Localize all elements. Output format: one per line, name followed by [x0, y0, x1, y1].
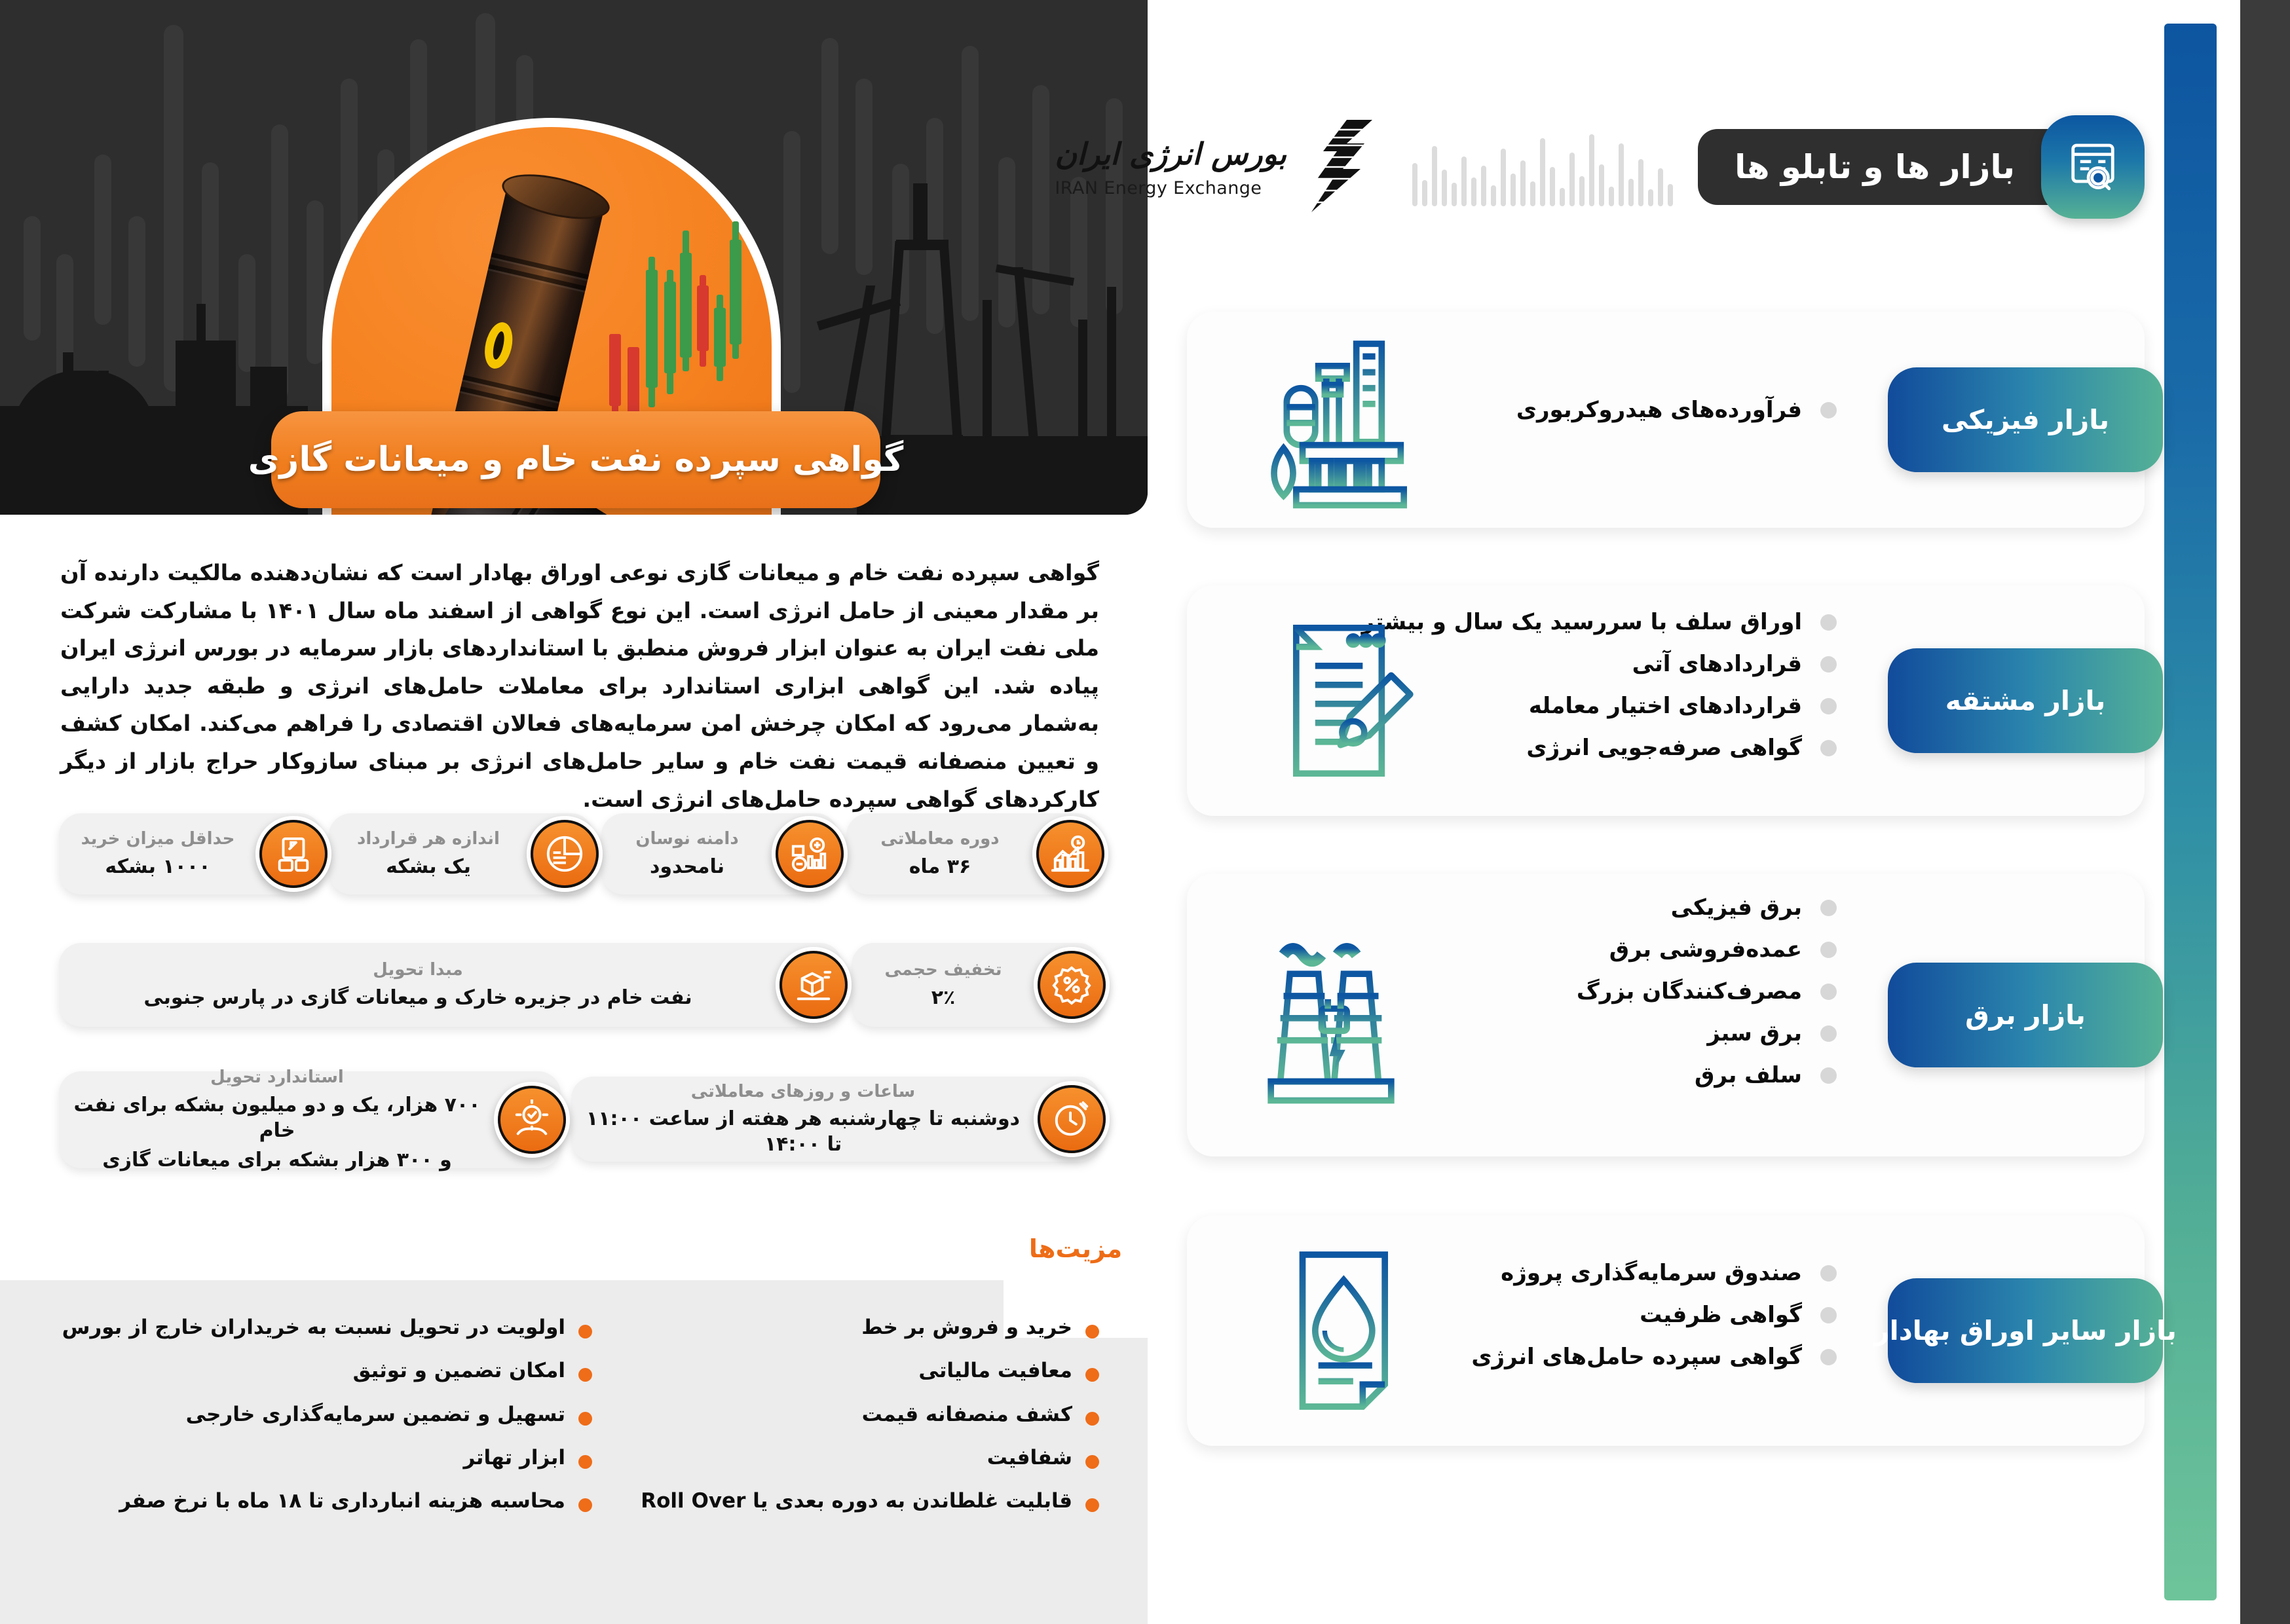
market-pill-electricity[interactable]: بازار برق: [1888, 963, 2163, 1067]
bullet-dot: [1820, 1349, 1837, 1365]
spec-label: استاندارد تحویل: [73, 1067, 481, 1088]
bullet-dot: [1085, 1325, 1099, 1338]
list-item: شفافیت: [641, 1445, 1099, 1471]
logo-name-fa: بورس انرژی ایران: [1055, 136, 1286, 172]
bullet-dot: [578, 1412, 592, 1426]
bullet-dot: [1820, 614, 1837, 631]
market-card-other-securities: بازار سایر اوراق بهادار صندوق سرمایه‌گذا: [1187, 1215, 2145, 1446]
spec-label: حداقل میزان خرید: [73, 828, 242, 850]
spec-label: اندازه هر قرارداد: [343, 828, 514, 850]
spec-label: تخفیف حجمی: [866, 959, 1021, 981]
bullet-dot: [1820, 698, 1837, 714]
bullet-dot: [1820, 740, 1837, 756]
bullet-dot: [1820, 656, 1837, 673]
market-card-physical: بازار فیزیکی: [1187, 312, 2145, 528]
spec-chip-delivery-standard: استاندارد تحویل ۷۰۰ هزار، یک و دو میلیون…: [59, 1071, 561, 1168]
spec-value: نفت خام در جزیره خارک و میعانات گازی در …: [73, 985, 762, 1010]
spec-label: دوره معاملاتی: [861, 828, 1019, 850]
market-pill-physical[interactable]: بازار فیزیکی: [1888, 367, 2163, 472]
volatility-icon: [772, 816, 848, 892]
spec-value-line1: ۷۰۰ هزار، یک و دو میلیون بشکه برای نفت خ…: [73, 1092, 481, 1143]
bullet-dot: [1820, 900, 1837, 916]
market-card-electricity: بازار برق: [1187, 874, 2145, 1156]
oil-certificate-icon: [1255, 1236, 1445, 1426]
list-item: تسهیل و تضمین سرمایه‌گذاری خارجی: [42, 1401, 592, 1428]
bullet-dot: [1820, 1067, 1837, 1084]
bullet-dot: [1820, 1265, 1837, 1282]
intro-paragraph: گواهی سپرده نفت خام و میعانات گازی نوعی …: [60, 554, 1099, 818]
spec-chip-volume-discount: تخفیف حجمی ۲٪: [852, 943, 1100, 1027]
power-plant-icon: [1255, 920, 1445, 1110]
spec-chip-contract-size: اندازه هر قرارداد یک بشکه: [329, 813, 593, 895]
bullet-dot: [578, 1455, 592, 1469]
spec-chip-delivery-origin: مبدا تحویل نفت خام در جزیره خارک و میعان…: [59, 943, 842, 1027]
right-panel-title: بازار ها و تابلو ها: [1735, 148, 2015, 186]
bullet-dot: [1820, 402, 1837, 418]
logo-name-en: IRAN Energy Exchange: [1055, 178, 1286, 198]
list-item: اولویت در تحویل نسبت به خریداران خارج از…: [42, 1314, 592, 1340]
growth-chart-icon: [1032, 816, 1108, 892]
spec-chip-trading-period: دوره معاملاتی ۳۶ ماه: [846, 813, 1099, 895]
bullet-dot: [578, 1498, 592, 1512]
spec-label: ساعات و روزهای معاملاتی: [586, 1081, 1021, 1103]
bullet-dot: [1085, 1498, 1099, 1512]
bullet-dot: [1820, 942, 1837, 958]
advantages-column-left: اولویت در تحویل نسبت به خریداران خارج از…: [42, 1314, 592, 1531]
board-search-icon: [2041, 115, 2145, 219]
spec-value: یک بشکه: [343, 854, 514, 879]
spec-value: نامحدود: [616, 854, 759, 879]
advantages-tab-label: مزیت‌ها: [1029, 1234, 1122, 1263]
quality-seal-icon: [494, 1082, 570, 1158]
bullet-dot: [1820, 984, 1837, 1000]
percent-badge-icon: [1034, 947, 1110, 1023]
spec-chip-volatility: دامنه نوسان نامحدود: [601, 813, 838, 895]
list-item: قابلیت غلطاندن به دوره بعدی یا Roll Over: [641, 1488, 1099, 1514]
spec-value: ۳۶ ماه: [861, 854, 1019, 879]
spec-chip-trading-hours: ساعات و روزهای معاملاتی دوشنبه تا چهارشن…: [571, 1077, 1100, 1162]
market-card-derivatives: بازار مشتقه: [1187, 585, 2145, 816]
list-item: کشف منصفانه قیمت: [641, 1401, 1099, 1428]
right-panel-title-banner: بازار ها و تابلو ها: [1698, 129, 2075, 205]
clock-icon: [1034, 1081, 1110, 1157]
bullet-dot: [1820, 1307, 1837, 1323]
page-title: گواهی سپرده نفت خام و میعانات گازی: [248, 440, 903, 479]
hero-title-banner: گواهی سپرده نفت خام و میعانات گازی: [271, 411, 880, 508]
right-panel-header: بازار ها و تابلو ها بورس انرژی: [1055, 115, 2145, 219]
spec-value: ۲٪: [866, 985, 1021, 1010]
delivery-box-icon: [776, 947, 852, 1023]
advantages-panel: مزیت‌ها خرید و فروش بر خط معافیت مالیاتی…: [0, 1280, 1148, 1624]
spec-value-line2: و ۳۰۰ هزار بشکه برای میعانات گازی: [73, 1147, 481, 1173]
bullet-dot: [1085, 1368, 1099, 1382]
logo-mark-icon: [1304, 118, 1382, 216]
spec-value: دوشنبه تا چهارشنبه هر هفته از ساعت ۱۱:۰۰…: [586, 1106, 1021, 1157]
pie-chart-icon: [527, 816, 603, 892]
bullet-dot: [1820, 1025, 1837, 1042]
basket-cart-icon: [255, 816, 331, 892]
right-edge-gradient-strip: [2164, 24, 2217, 1600]
spec-label: دامنه نوسان: [616, 828, 759, 850]
spec-label: مبدا تحویل: [73, 959, 762, 981]
infographic-canvas: گواهی سپرده نفت خام و میعانات گازی گواهی…: [0, 0, 2240, 1624]
spec-value: ۱۰۰۰ بشکه: [73, 854, 242, 879]
waveform-decoration: [1412, 128, 1673, 206]
hero-banner: گواهی سپرده نفت خام و میعانات گازی: [0, 0, 1148, 515]
list-item: خرید و فروش بر خط: [641, 1314, 1099, 1340]
spec-chip-min-purchase: حداقل میزان خرید ۱۰۰۰ بشکه: [59, 813, 322, 895]
refinery-icon: [1255, 325, 1445, 515]
list-item: معافیت مالیاتی: [641, 1357, 1099, 1384]
bullet-dot: [578, 1368, 592, 1382]
list-item: امکان تضمین و توثیق: [42, 1357, 592, 1384]
bullet-dot: [578, 1325, 592, 1338]
bullet-dot: [1085, 1412, 1099, 1426]
contract-signature-icon: [1255, 606, 1445, 796]
list-item: محاسبه هزینه انبارداری تا ۱۸ ماه با نرخ …: [42, 1488, 592, 1514]
bullet-dot: [1085, 1455, 1099, 1469]
market-pill-derivatives[interactable]: بازار مشتقه: [1888, 648, 2163, 753]
advantages-column-right: خرید و فروش بر خط معافیت مالیاتی کشف منص…: [641, 1314, 1099, 1531]
iran-energy-exchange-logo: بورس انرژی ایران IRAN Energy Exchange: [1055, 118, 1382, 216]
market-pill-other-securities[interactable]: بازار سایر اوراق بهادار: [1888, 1278, 2163, 1383]
list-item: ابزار تهاتر: [42, 1445, 592, 1471]
